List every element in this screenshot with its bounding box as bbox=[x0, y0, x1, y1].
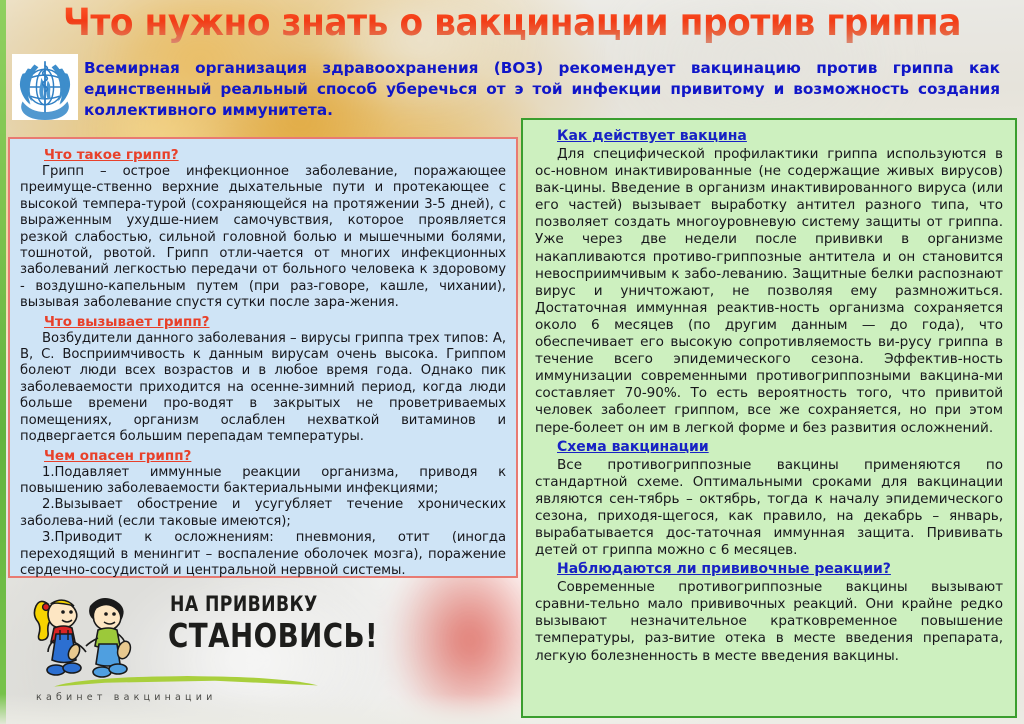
paragraph-vaccine-reactions: Современные противогриппозные вакцины вы… bbox=[535, 579, 1003, 664]
slogan-line-2: СТАНОВИСЬ! bbox=[168, 616, 378, 655]
paragraph-danger-3: 3.Приводит к осложнениям: пневмония, оти… bbox=[20, 530, 506, 579]
heading-how-vaccine-works: Как действует вакцина bbox=[557, 127, 1003, 146]
left-edge-strip bbox=[0, 0, 6, 724]
heading-vaccine-reactions: Наблюдаются ли прививочные реакции? bbox=[557, 560, 1003, 579]
heading-flu-dangers: Чем опасен грипп? bbox=[44, 447, 506, 465]
poster-root: Что нужно знать о вакцинации против грип… bbox=[0, 0, 1024, 724]
left-info-panel: Что такое грипп? Грипп – острое инфекцио… bbox=[8, 137, 518, 578]
sub-slogan: кабинет вакцинации bbox=[36, 692, 216, 703]
children-characters-icon bbox=[18, 590, 168, 690]
who-recommendation-text: Всемирная организация здравоохранения (В… bbox=[84, 58, 1000, 121]
paragraph-how-vaccine-works: Для специфической профилактики гриппа ис… bbox=[535, 146, 1003, 437]
heading-what-is-flu: Что такое грипп? bbox=[44, 146, 506, 164]
paragraph-what-causes-flu: Возбудители данного заболевания – вирусы… bbox=[20, 331, 506, 446]
who-emblem-icon bbox=[12, 54, 78, 120]
paragraph-danger-2: 2.Вызывает обострение и усугубляет течен… bbox=[20, 497, 506, 530]
slogan-line-1: НА ПРИВИВКУ bbox=[170, 592, 318, 616]
paragraph-vaccination-schedule: Все противогриппозные вакцины применяютс… bbox=[535, 457, 1003, 560]
page-title: Что нужно знать о вакцинации против грип… bbox=[36, 2, 988, 44]
paragraph-danger-1: 1.Подавляет иммунные реакции организма, … bbox=[20, 465, 506, 498]
right-info-panel: Как действует вакцина Для специфической … bbox=[521, 118, 1017, 718]
heading-what-causes-flu: Что вызывает грипп? bbox=[44, 313, 506, 331]
paragraph-what-is-flu: Грипп – острое инфекционное заболевание,… bbox=[20, 164, 506, 312]
heading-vaccination-schedule: Схема вакцинации bbox=[557, 438, 1003, 457]
vaccination-illustration: НА ПРИВИВКУ СТАНОВИСЬ! кабинет вакцинаци… bbox=[18, 588, 348, 712]
